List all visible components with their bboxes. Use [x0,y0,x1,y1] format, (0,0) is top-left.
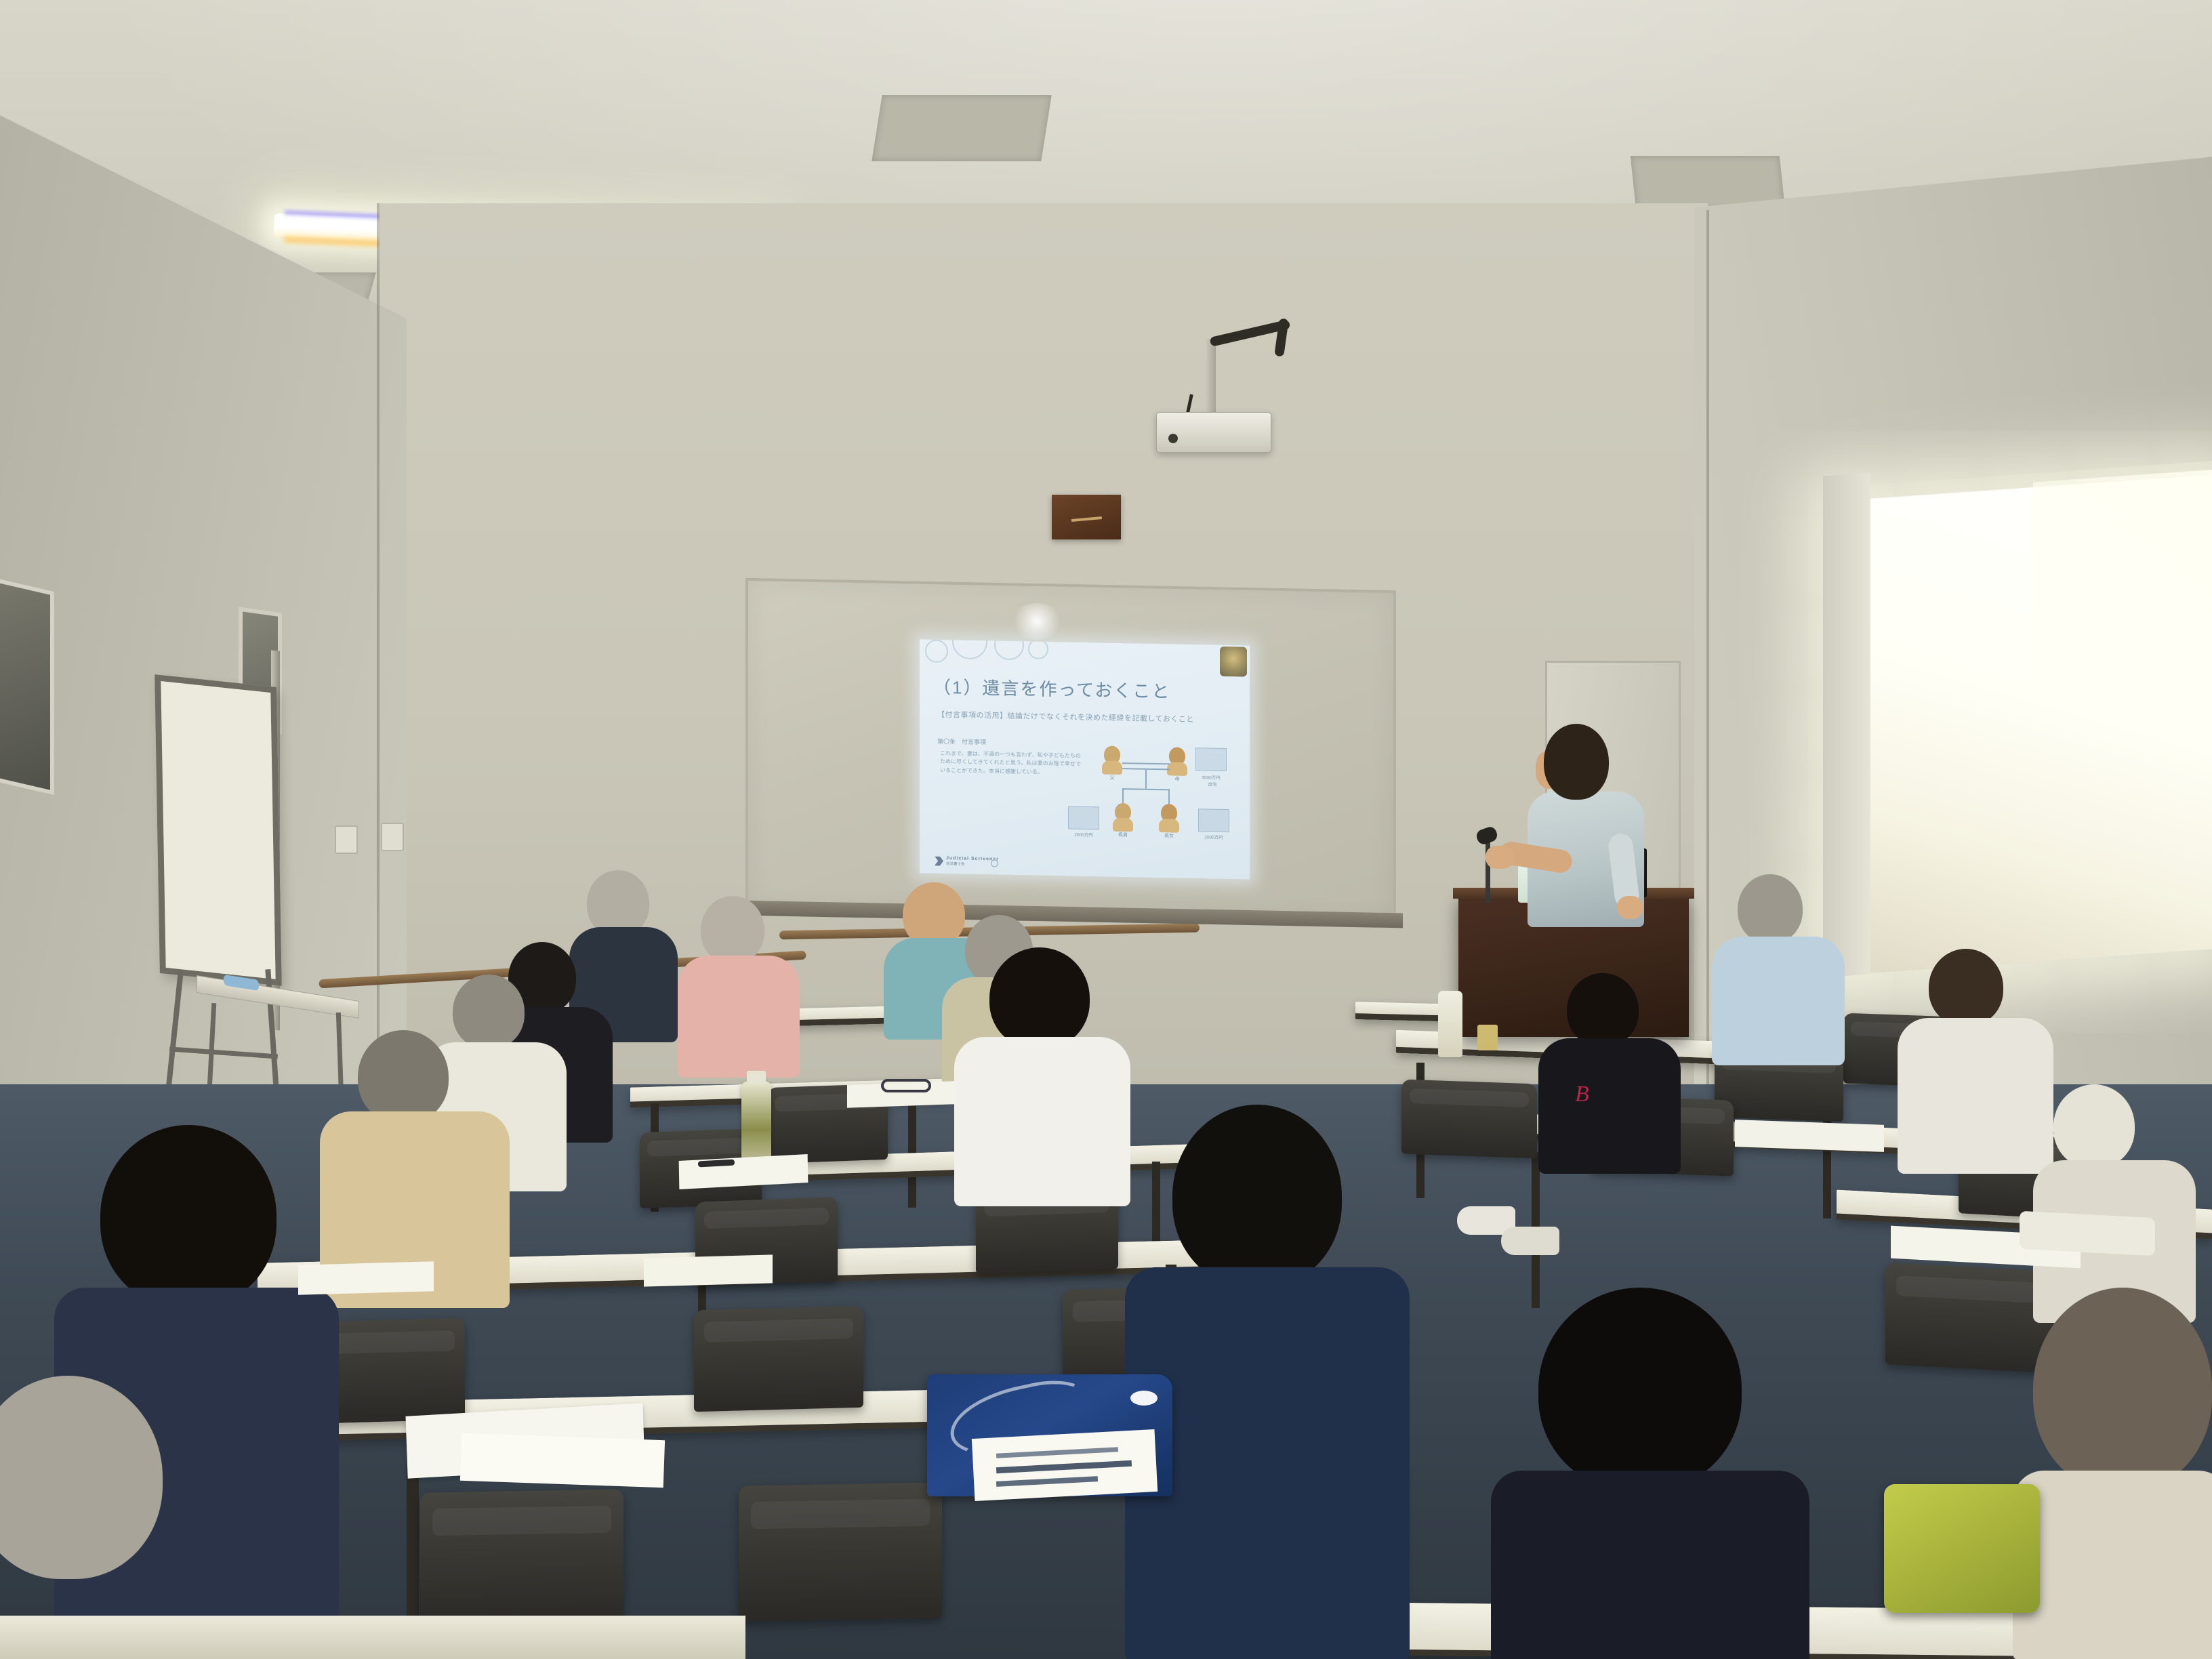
projected-slide: （1）遺言を作っておくこと 【付言事項の活用】結論だけでなくそれを決めた経緯を記… [920,639,1250,879]
front-table-edge [0,1616,745,1659]
wall-corner [1706,210,1709,1105]
slide-section-heading: 第〇条 付言事項 [937,737,986,746]
torso [2013,1471,2212,1659]
window-curtain [1823,473,1870,978]
ceiling-projector [1156,412,1271,453]
family-node-mother: 母 [1167,747,1187,775]
slide-footer-ring-icon [991,859,998,867]
head [100,1125,276,1308]
head [1172,1105,1342,1288]
presenter-head [1544,724,1609,800]
handout-paper [1735,1120,1884,1152]
towel-cloth [2020,1211,2155,1256]
sunlight-glare [2033,466,2212,997]
family-node-label: 長女 [1155,832,1183,840]
presenter-hand-left [1486,846,1514,869]
torso [1491,1471,1809,1659]
family-node-label: 母 [1163,775,1191,783]
organization-logo-icon [935,856,943,865]
tote-bag-dot-icon [1130,1391,1158,1406]
wall-corner [377,203,380,1125]
head [1929,949,2003,1026]
handout-paper [298,1261,434,1295]
projector-lens-icon [1168,434,1178,443]
mobile-whiteboard [155,674,282,986]
head [701,896,764,964]
slide-title: （1）遺言を作っておくこと [933,674,1170,703]
wall-light-switch[interactable] [381,823,404,851]
torso [954,1037,1130,1206]
cup [1477,1025,1498,1050]
handout-paper [644,1254,773,1286]
chair[interactable] [694,1306,863,1412]
slide-footer-logo: Judicial Scrivener 司法書士会 [935,855,999,868]
torso [1712,937,1845,1065]
head [2033,1288,2212,1491]
amount-box [1195,747,1227,771]
head [453,975,525,1049]
head [1738,874,1803,943]
family-tree-diagram: 父 母 長男 長女 3000万円 [1092,744,1245,865]
organization-main: 司法書士会 [946,862,965,867]
eyeglasses-icon [881,1079,931,1092]
torso [678,956,800,1078]
family-node-label: 父 [1098,774,1126,781]
water-bottle [1438,991,1462,1057]
family-node-eldest-daughter: 長女 [1159,804,1179,832]
avatar-body [1167,762,1187,776]
chair[interactable] [739,1482,942,1621]
head [989,947,1090,1049]
projector-hotspot [1010,603,1064,640]
amount-box [1068,806,1099,830]
head [358,1030,449,1124]
presenter-hand-right [1617,896,1643,919]
amount-box [1198,808,1229,832]
green-tea-bottle [741,1082,771,1168]
handout-paper [460,1433,665,1488]
avatar-body [1102,760,1122,775]
slide-body-text: これまで、妻は、不満の一つも言わず、私や子どもたちのために尽くしてきてくれたと思… [940,750,1081,777]
torso [1898,1018,2053,1174]
family-node-father: 父 [1102,745,1122,773]
amount-label: 2000万円 [1067,830,1101,838]
chair[interactable] [1401,1080,1537,1159]
chair[interactable] [420,1489,623,1628]
head [1538,1288,1742,1491]
classroom-seminar-photo: （1）遺言を作っておくこと 【付言事項の活用】結論だけでなくそれを決めた経緯を記… [0,0,2212,1659]
left-high-window [0,577,54,795]
amount-note: 自宅 [1195,780,1229,787]
amount-label: 2000万円 [1197,833,1231,840]
head [1567,973,1639,1046]
wall-light-switch[interactable] [335,825,358,854]
slide-subtitle: 【付言事項の活用】結論だけでなくそれを決めた経緯を記載しておくこと [937,709,1240,726]
yellow-green-bag [1884,1484,2040,1613]
tshirt-logo-text: B [1575,1082,1589,1107]
ceiling-air-vent [872,95,1052,161]
avatar-body [1159,819,1179,833]
slide-corner-illustration [1220,647,1247,677]
torso [1538,1038,1681,1174]
family-node-eldest-son: 長男 [1113,803,1133,831]
shoe [1501,1227,1559,1255]
wall-clock-plaque [1052,495,1121,539]
avatar-body [1113,818,1133,832]
head [2053,1084,2135,1168]
bottle-cap-icon [747,1071,766,1084]
family-node-label: 長男 [1109,832,1137,839]
